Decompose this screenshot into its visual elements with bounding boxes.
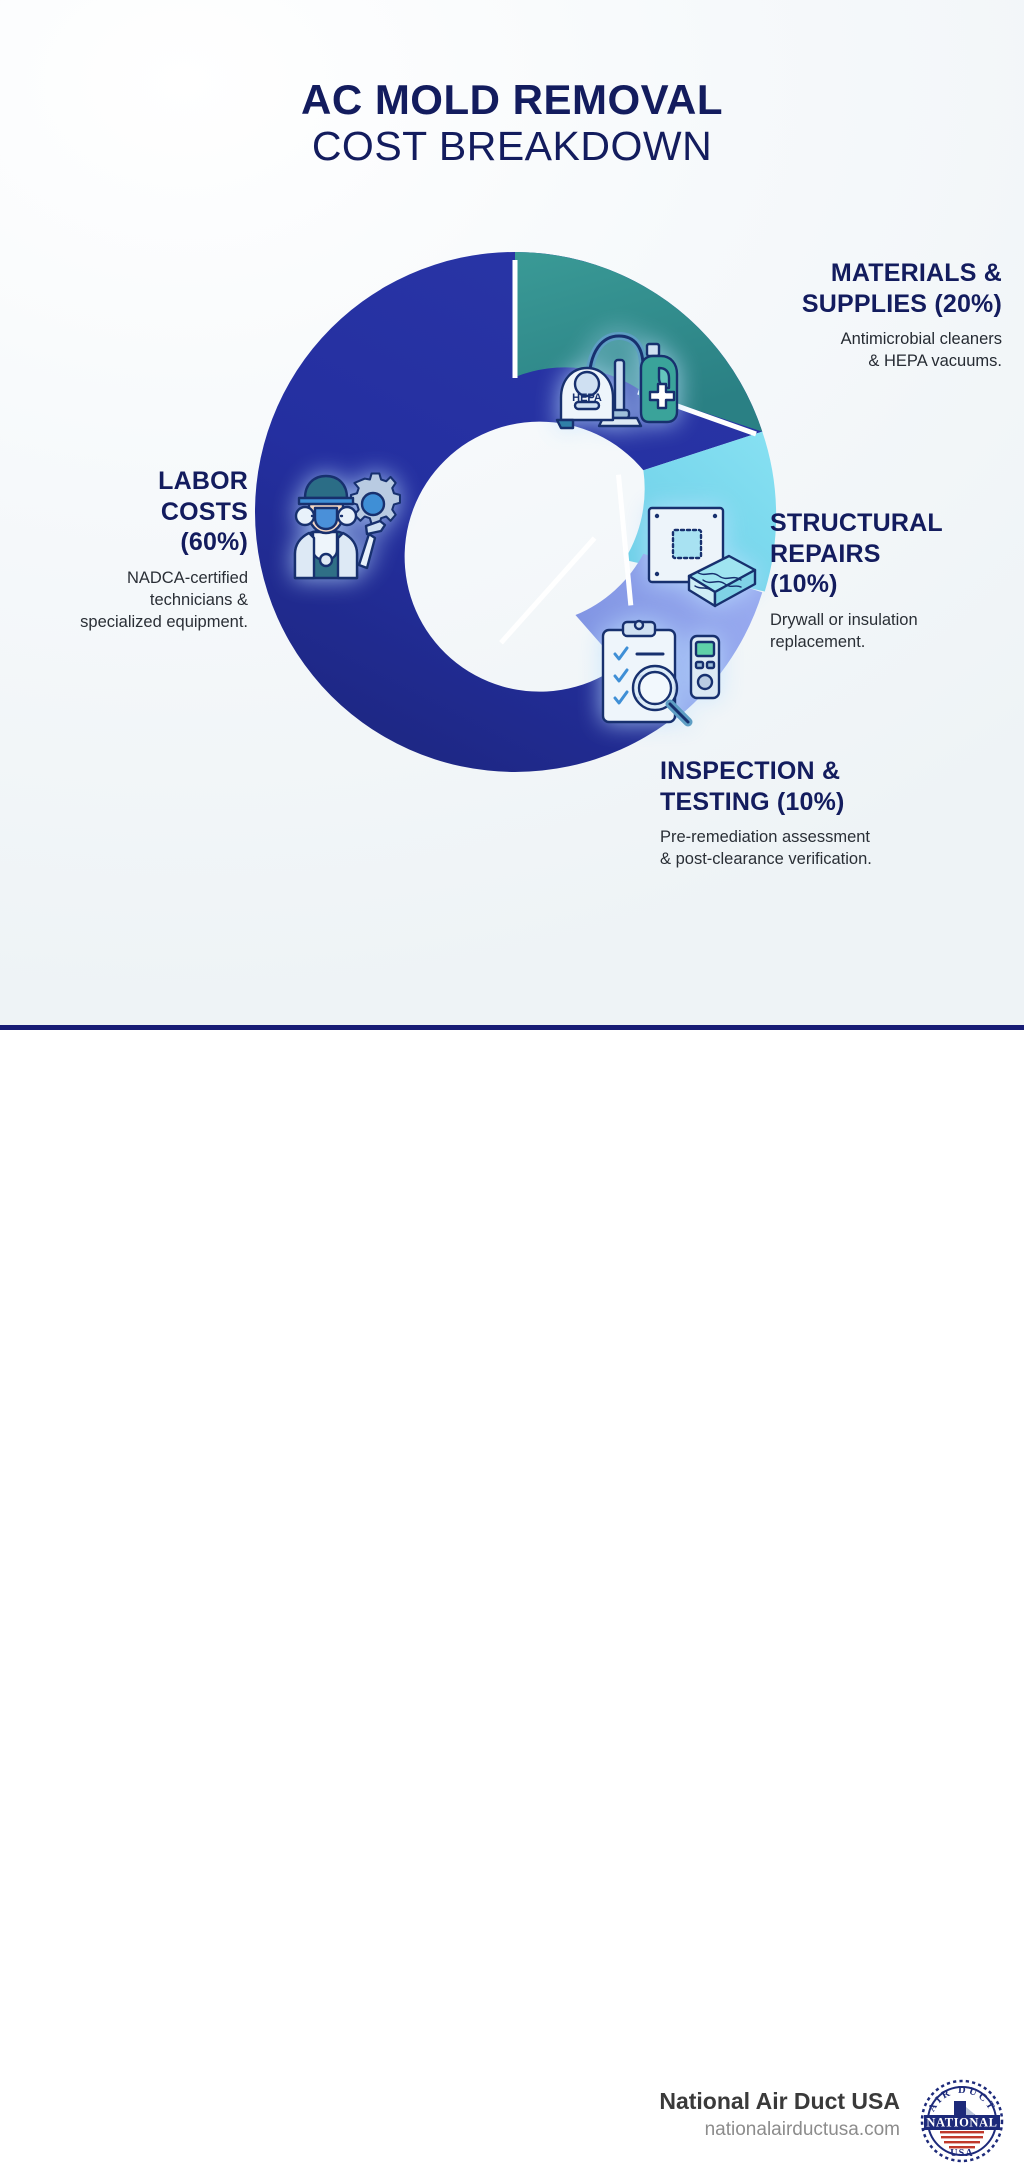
callout-structural-repairs: STRUCTURAL REPAIRS (10%) Drywall or insu… bbox=[770, 508, 1020, 653]
footer: National Air Duct USA nationalairductusa… bbox=[0, 1030, 1024, 1154]
svg-text:HEPA: HEPA bbox=[572, 392, 602, 404]
callout-structural-description: Drywall or insulation replacement. bbox=[770, 609, 1020, 654]
clipboard-magnifier-meter-icon bbox=[597, 618, 723, 726]
page-title: AC MOLD REMOVAL COST BREAKDOWN bbox=[0, 78, 1024, 170]
callout-materials-description: Antimicrobial cleaners & HEPA vacuums. bbox=[692, 328, 1002, 373]
drywall-panel-and-insulation-icon bbox=[643, 502, 759, 606]
logo-band-text: NATIONAL bbox=[926, 2116, 997, 2130]
brand-block: National Air Duct USA nationalairductusa… bbox=[659, 2087, 900, 2142]
callout-labor-costs: LABOR COSTS (60%) NADCA-certified techni… bbox=[8, 466, 248, 634]
infographic-canvas: AC MOLD REMOVAL COST BREAKDOWN bbox=[0, 0, 1024, 1025]
callout-inspection-testing: INSPECTION & TESTING (10%) Pre-remediati… bbox=[660, 756, 960, 871]
website-url[interactable]: nationalairductusa.com bbox=[659, 2118, 900, 2143]
logo-bottom-text: USA bbox=[950, 2148, 974, 2159]
callout-inspection-description: Pre-remediation assessment & post-cleara… bbox=[660, 826, 960, 871]
callout-labor-description: NADCA-certified technicians & specialize… bbox=[8, 567, 248, 634]
callout-inspection-heading: INSPECTION & TESTING (10%) bbox=[660, 756, 960, 817]
hepa-vacuum-and-cleaner-bottle-icon: HEPA bbox=[555, 324, 681, 432]
title-line-1: AC MOLD REMOVAL bbox=[0, 78, 1024, 123]
callout-materials-supplies: MATERIALS & SUPPLIES (20%) Antimicrobial… bbox=[692, 258, 1002, 373]
callout-structural-heading: STRUCTURAL REPAIRS (10%) bbox=[770, 508, 1020, 600]
callout-materials-heading: MATERIALS & SUPPLIES (20%) bbox=[692, 258, 1002, 319]
national-air-duct-usa-logo: NATIONAL AIR DUCT USA bbox=[916, 2075, 1008, 2167]
company-name: National Air Duct USA bbox=[659, 2087, 900, 2116]
title-line-2: COST BREAKDOWN bbox=[0, 123, 1024, 171]
technician-respirator-gear-icon bbox=[283, 460, 405, 580]
callout-labor-heading: LABOR COSTS (60%) bbox=[8, 466, 248, 558]
